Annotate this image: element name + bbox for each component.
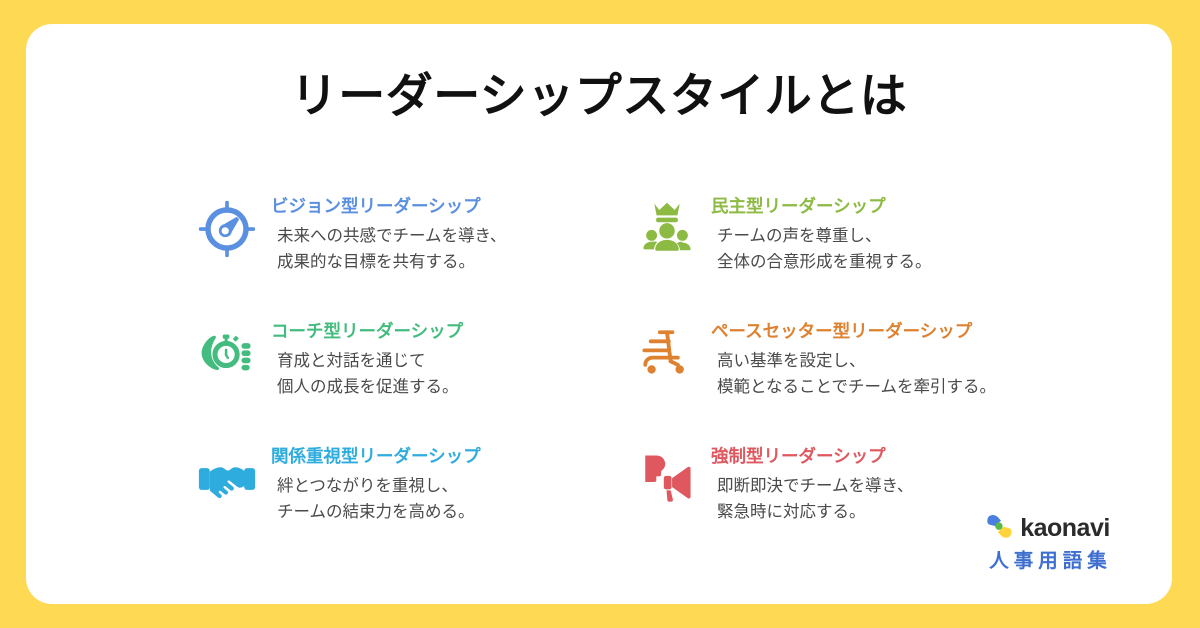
poster-frame: リーダーシップスタイルとは ビジョン型リーダーシップ bbox=[0, 0, 1200, 628]
list-item-title: コーチ型リーダーシップ bbox=[271, 320, 463, 343]
description-line-2: 成果的な目標を共有する。 bbox=[277, 249, 506, 276]
target-compass-icon bbox=[191, 193, 263, 265]
list-item-relationship: 関係重視型リーダーシップ 絆とつながりを重視し、 チームの結束力を高める。 bbox=[191, 437, 631, 562]
description-line-1: チームの声を尊重し、 bbox=[717, 223, 932, 250]
list-item-description: チームの声を尊重し、 全体の合意形成を重視する。 bbox=[711, 223, 932, 276]
description-line-1: 即断即決でチームを導き、 bbox=[717, 473, 913, 500]
list-item-title: 強制型リーダーシップ bbox=[711, 445, 913, 468]
page-title: リーダーシップスタイルとは bbox=[26, 68, 1172, 124]
list-item-title: 関係重視型リーダーシップ bbox=[271, 445, 481, 468]
kaonavi-mark-icon bbox=[986, 514, 1013, 544]
list-item-body: 民主型リーダーシップ チームの声を尊重し、 全体の合意形成を重視する。 bbox=[703, 187, 932, 276]
list-item-description: 未来への共感でチームを導き、 成果的な目標を共有する。 bbox=[271, 223, 506, 276]
megaphone-head-icon bbox=[631, 443, 703, 515]
list-item-body: ビジョン型リーダーシップ 未来への共感でチームを導き、 成果的な目標を共有する。 bbox=[263, 187, 506, 276]
leadership-style-grid: ビジョン型リーダーシップ 未来への共感でチームを導き、 成果的な目標を共有する。 bbox=[191, 187, 1091, 562]
list-item-coach: コーチ型リーダーシップ 育成と対話を通じて 個人の成長を促進する。 bbox=[191, 312, 631, 437]
content-card: リーダーシップスタイルとは ビジョン型リーダーシップ bbox=[26, 24, 1172, 604]
list-item-pacesetter: ペースセッター型リーダーシップ 高い基準を設定し、 模範となることでチームを牽引… bbox=[631, 312, 1091, 437]
list-item-democratic: 民主型リーダーシップ チームの声を尊重し、 全体の合意形成を重視する。 bbox=[631, 187, 1091, 312]
crown-people-icon bbox=[631, 193, 703, 265]
list-item-description: 絆とつながりを重視し、 チームの結束力を高める。 bbox=[271, 473, 481, 526]
list-item-body: 関係重視型リーダーシップ 絆とつながりを重視し、 チームの結束力を高める。 bbox=[263, 437, 481, 526]
kaonavi-wordmark: kaonavi bbox=[1020, 516, 1110, 541]
list-item-body: ペースセッター型リーダーシップ 高い基準を設定し、 模範となることでチームを牽引… bbox=[703, 312, 996, 401]
list-item-vision: ビジョン型リーダーシップ 未来への共感でチームを導き、 成果的な目標を共有する。 bbox=[191, 187, 631, 312]
list-item-title: ビジョン型リーダーシップ bbox=[271, 195, 506, 218]
kaonavi-logo: kaonavi 人事用語集 bbox=[968, 514, 1128, 572]
list-item-title: ペースセッター型リーダーシップ bbox=[711, 320, 996, 343]
hand-stopwatch-icon bbox=[191, 318, 263, 390]
logo-row: kaonavi bbox=[968, 514, 1128, 544]
description-line-2: 模範となることでチームを牽引する。 bbox=[717, 374, 996, 401]
handshake-icon bbox=[191, 443, 263, 515]
description-line-1: 育成と対話を通じて bbox=[277, 348, 463, 375]
description-line-2: チームの結束力を高める。 bbox=[277, 499, 481, 526]
description-line-2: 緊急時に対応する。 bbox=[717, 499, 913, 526]
list-item-description: 即断即決でチームを導き、 緊急時に対応する。 bbox=[711, 473, 913, 526]
description-line-1: 絆とつながりを重視し、 bbox=[277, 473, 481, 500]
description-line-1: 未来への共感でチームを導き、 bbox=[277, 223, 506, 250]
description-line-2: 個人の成長を促進する。 bbox=[277, 374, 463, 401]
list-item-description: 育成と対話を通じて 個人の成長を促進する。 bbox=[271, 348, 463, 401]
logo-subtitle: 人事用語集 bbox=[968, 551, 1128, 572]
list-item-body: コーチ型リーダーシップ 育成と対話を通じて 個人の成長を促進する。 bbox=[263, 312, 463, 401]
list-item-title: 民主型リーダーシップ bbox=[711, 195, 932, 218]
list-item-description: 高い基準を設定し、 模範となることでチームを牽引する。 bbox=[711, 348, 996, 401]
description-line-1: 高い基準を設定し、 bbox=[717, 348, 996, 375]
description-line-2: 全体の合意形成を重視する。 bbox=[717, 249, 932, 276]
kick-scooter-icon bbox=[631, 318, 703, 390]
list-item-body: 強制型リーダーシップ 即断即決でチームを導き、 緊急時に対応する。 bbox=[703, 437, 913, 526]
